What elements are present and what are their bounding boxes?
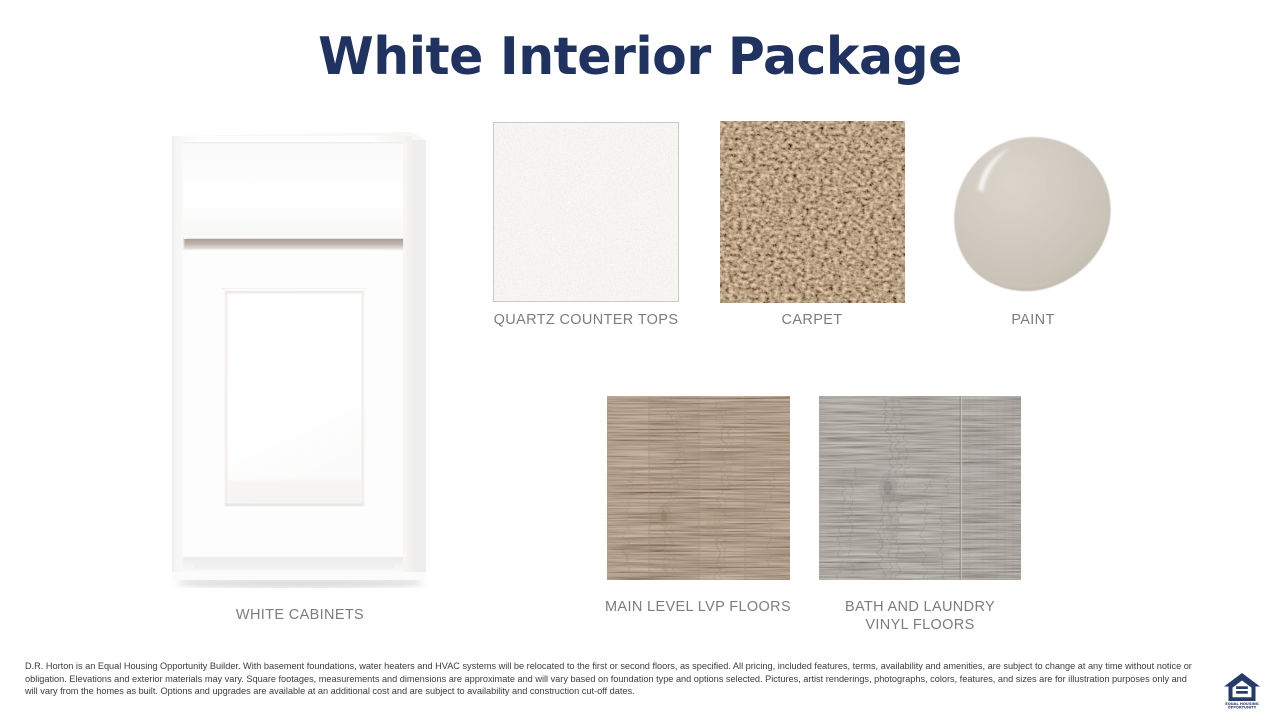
swatch-white-cabinets — [168, 120, 430, 588]
swatch-quartz-counter-tops — [493, 122, 679, 302]
white-cabinet-image — [168, 120, 430, 588]
label-line-2: VINYL FLOORS — [865, 617, 974, 633]
label-quartz-counter-tops: QUARTZ COUNTER TOPS — [466, 311, 706, 329]
label-main-level-lvp-floors: MAIN LEVEL LVP FLOORS — [588, 598, 808, 616]
equal-housing-opportunity-logo: EQUAL HOUSING OPPORTUNITY — [1222, 670, 1262, 710]
logo-caption-line-2: OPPORTUNITY — [1228, 706, 1257, 710]
disclaimer-text: D.R. Horton is an Equal Housing Opportun… — [25, 660, 1200, 698]
label-line-1: BATH AND LAUNDRY — [845, 599, 995, 615]
swatch-bath-and-laundry-vinyl-floors — [819, 396, 1021, 580]
page-title: White Interior Package — [19, 26, 1261, 88]
label-paint: PAINT — [950, 311, 1116, 329]
swatch-carpet — [720, 121, 905, 303]
house-icon: EQUAL HOUSING OPPORTUNITY — [1222, 670, 1262, 710]
label-white-cabinets: WHITE CABINETS — [180, 606, 420, 624]
label-carpet: CARPET — [712, 311, 912, 329]
swatch-main-level-lvp-floors — [607, 396, 790, 580]
swatch-paint — [950, 132, 1116, 296]
label-bath-and-laundry-vinyl-floors: BATH AND LAUNDRY VINYL FLOORS — [820, 598, 1020, 634]
